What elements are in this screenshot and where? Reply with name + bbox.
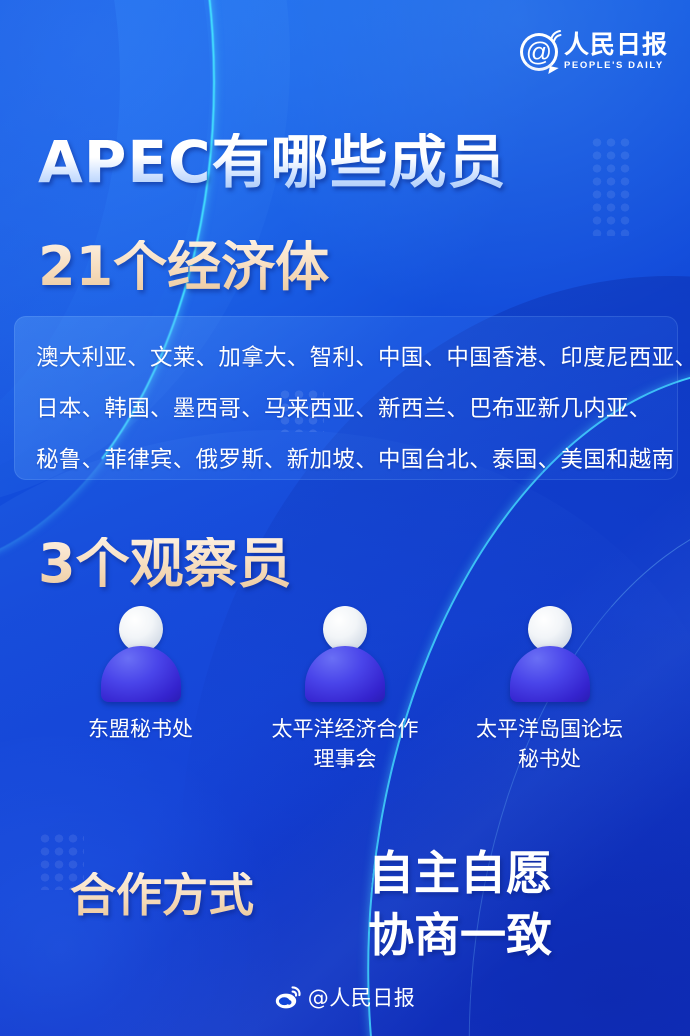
peoples-daily-logo: 人民日报 PEOPLE'S DAILY	[520, 32, 668, 71]
observer-item: 东盟秘书处	[48, 606, 233, 774]
decorative-dot-grid-top-right	[590, 136, 634, 236]
page-title: APEC有哪些成员	[38, 133, 507, 191]
at-sign-icon	[520, 33, 558, 71]
person-body	[305, 646, 385, 702]
observer-label: 太平洋岛国论坛秘书处	[476, 714, 623, 774]
observer-item: 太平洋经济合作理事会	[253, 606, 438, 774]
person-icon	[302, 606, 388, 702]
members-line: 秘鲁、菲律宾、俄罗斯、新加坡、中国台北、泰国、美国和越南	[36, 435, 656, 486]
logo-english-name: PEOPLE'S DAILY	[564, 60, 664, 71]
members-list-card: 澳大利亚、文莱、加拿大、智利、中国、中国香港、印度尼西亚、 日本、韩国、墨西哥、…	[14, 316, 678, 480]
person-body	[101, 646, 181, 702]
observers-heading: 3个观察员	[38, 537, 292, 591]
observers-list: 东盟秘书处 太平洋经济合作理事会 太平洋岛国论坛秘书处	[0, 606, 690, 774]
infographic-poster: 人民日报 PEOPLE'S DAILY APEC有哪些成员 21个经济体 澳大利…	[0, 0, 690, 1036]
signal-waves-icon	[548, 27, 564, 43]
cooperation-value: 协商一致	[368, 912, 552, 958]
cooperation-heading: 合作方式	[70, 872, 254, 918]
person-icon	[98, 606, 184, 702]
cooperation-value: 自主自愿	[368, 850, 552, 896]
observer-item: 太平洋岛国论坛秘书处	[457, 606, 642, 774]
cooperation-values: 自主自愿 协商一致	[368, 850, 552, 958]
logo-chinese-name: 人民日报	[564, 32, 668, 58]
person-icon	[507, 606, 593, 702]
person-body	[510, 646, 590, 702]
weibo-icon	[275, 986, 301, 1009]
members-line: 日本、韩国、墨西哥、马来西亚、新西兰、巴布亚新几内亚、	[36, 384, 656, 435]
economies-heading: 21个经济体	[38, 240, 329, 294]
footer: @人民日报	[0, 982, 690, 1012]
observer-label: 太平洋经济合作理事会	[272, 714, 419, 774]
observer-label: 东盟秘书处	[88, 714, 193, 744]
members-line: 澳大利亚、文莱、加拿大、智利、中国、中国香港、印度尼西亚、	[36, 333, 656, 384]
footer-handle: @人民日报	[308, 982, 416, 1012]
